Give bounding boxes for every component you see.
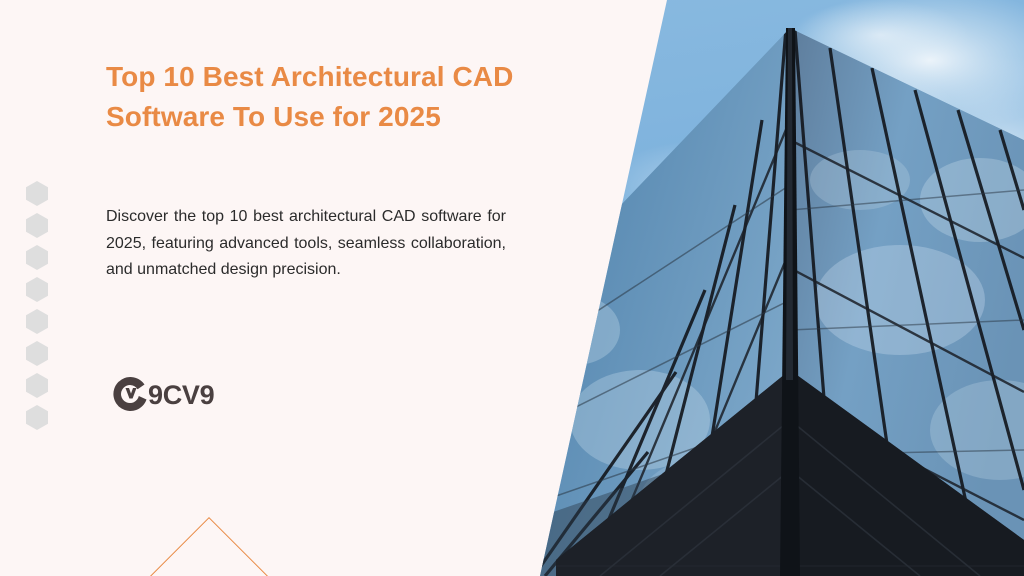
logo-wordmark: 9CV9 (148, 382, 214, 409)
hexagon-icon (26, 341, 48, 366)
hexagon-icon (26, 309, 48, 334)
hexagon-icon (26, 245, 48, 270)
banner-canvas: Top 10 Best Architectural CAD Software T… (0, 0, 1024, 576)
hexagon-icon (26, 213, 48, 238)
hexagon-icon (26, 405, 48, 430)
logo[interactable]: 9CV9 (108, 372, 214, 418)
hexagon-icon (26, 277, 48, 302)
hexagon-decoration-column (26, 181, 50, 437)
page-title: Top 10 Best Architectural CAD Software T… (106, 57, 526, 137)
hexagon-icon (26, 373, 48, 398)
hexagon-icon (26, 181, 48, 206)
diamond-outline-decoration (111, 517, 308, 576)
page-description: Discover the top 10 best architectural C… (106, 204, 506, 284)
